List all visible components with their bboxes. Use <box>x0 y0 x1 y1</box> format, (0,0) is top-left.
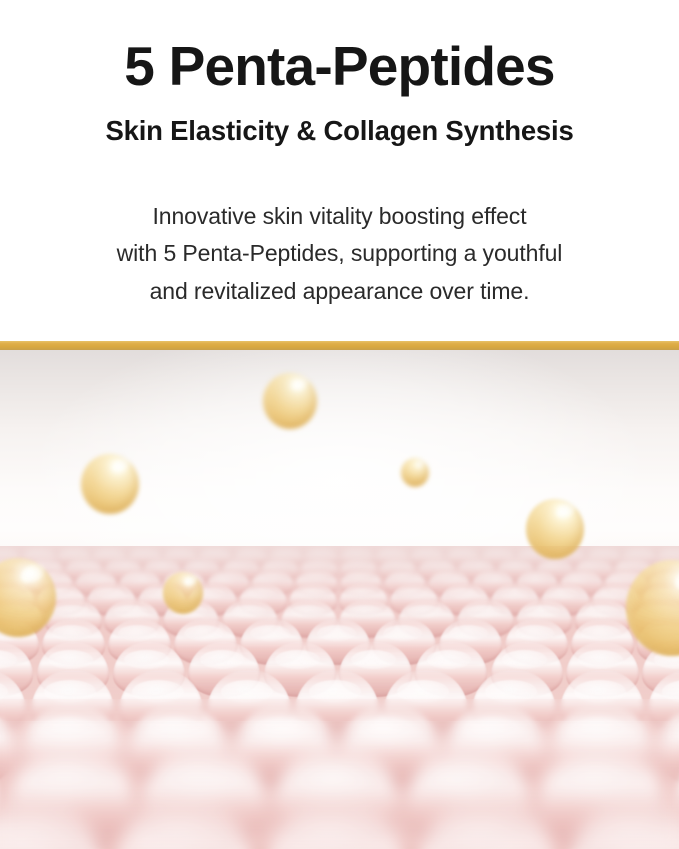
product-visual-image <box>0 350 679 849</box>
skin-cell-row <box>0 796 679 849</box>
description-line-3: and revitalized appearance over time. <box>0 273 679 310</box>
skin-cell <box>0 796 104 849</box>
droplet-top-center <box>263 373 317 429</box>
droplet-small-lower-left <box>163 572 203 614</box>
text-header-block: 5 Penta-Peptides Skin Elasticity & Colla… <box>0 0 679 341</box>
gold-divider-bar <box>0 341 679 350</box>
description-paragraph: Innovative skin vitality boosting effect… <box>0 198 679 310</box>
skin-cell <box>566 796 679 849</box>
skin-cell <box>415 796 558 849</box>
skin-surface-texture <box>0 546 679 849</box>
skin-cell <box>264 796 407 849</box>
droplet-mid-right <box>526 499 584 559</box>
skin-cell <box>113 796 256 849</box>
droplet-mid-left <box>81 454 139 514</box>
product-infographic-page: 5 Penta-Peptides Skin Elasticity & Colla… <box>0 0 679 849</box>
description-line-1: Innovative skin vitality boosting effect <box>0 198 679 235</box>
page-subtitle: Skin Elasticity & Collagen Synthesis <box>0 114 679 147</box>
droplet-small-upper-right <box>401 458 429 487</box>
description-line-2: with 5 Penta-Peptides, supporting a yout… <box>0 235 679 272</box>
page-title: 5 Penta-Peptides <box>0 38 679 96</box>
